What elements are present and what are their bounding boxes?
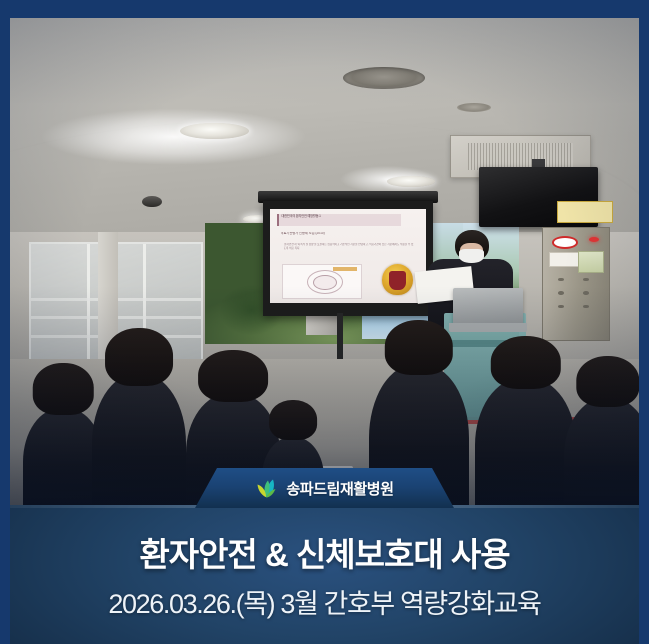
title-panel: 환자안전 & 신체보호대 사용 2026.03.26.(목) 3월 간호부 역량… <box>0 505 649 644</box>
leaf-icon <box>255 478 277 498</box>
page-title: 환자안전 & 신체보호대 사용 <box>139 528 509 576</box>
hospital-logo-ribbon: 송파드림재활병원 <box>195 468 454 508</box>
education-announcement-card: 대한민국의 환자안전 예방활동-1 의료기관평가 인증제 도입 (2010) '… <box>0 0 649 644</box>
page-subtitle: 2026.03.26.(목) 3월 간호부 역량강화교육 <box>108 582 540 621</box>
event-photo: 대한민국의 환자안전 예방활동-1 의료기관평가 인증제 도입 (2010) '… <box>10 18 639 505</box>
photo-scene: 대한민국의 환자안전 예방활동-1 의료기관평가 인증제 도입 (2010) '… <box>10 18 639 505</box>
photo-vignette <box>10 18 639 505</box>
hospital-name: 송파드림재활병원 <box>286 478 393 499</box>
